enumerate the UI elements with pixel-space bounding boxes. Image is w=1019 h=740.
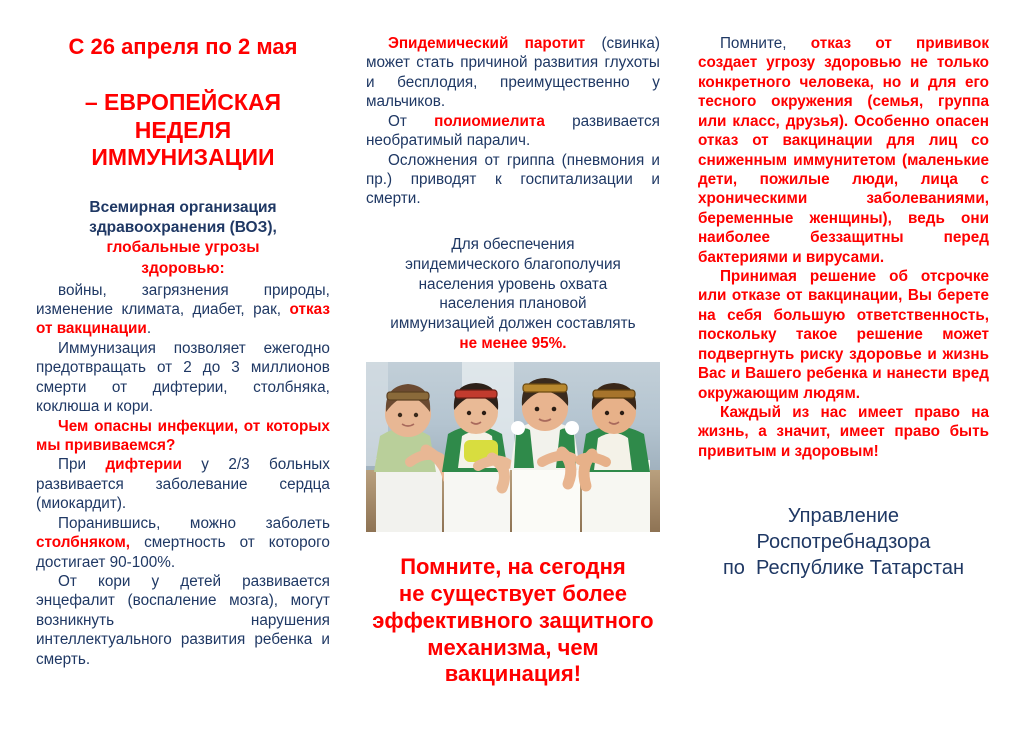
coverage-line-1: Для обеспечения [366,235,660,255]
header-title-line-2: НЕДЕЛЯ [36,117,330,145]
paragraph-question-danger: Чем опасны инфекции, от которых мы приви… [36,417,330,456]
who-subheading-line-1: Всемирная организация [36,198,330,218]
slogan-line-3: эффективного защитного [366,608,660,635]
coverage-line-4: населения плановой [366,294,660,314]
threats-tail: . [147,320,151,337]
diphtheria-lead: При [58,456,105,473]
tetanus-lead: Поранившись, можно заболеть [58,515,330,532]
authority-line-1: Управление [698,503,989,529]
vaccination-slogan: Помните, на сегодня не существует более … [366,554,660,688]
column-middle: Эпидемический паротит (свинка) может ста… [344,34,666,730]
photo-illustration [366,362,660,532]
vaccinated-girls-photo [366,362,660,532]
paragraph-tetanus: Поранившись, можно заболеть столбняком, … [36,514,330,572]
paragraph-refusal-risk: Помните, отказ от прививок создает угроз… [698,34,989,267]
column-right: Помните, отказ от прививок создает угроз… [666,34,1001,730]
paragraph-right-to-life: Каждый из нас имеет право на жизнь, а зн… [698,403,989,461]
header-title: – ЕВРОПЕЙСКАЯ НЕДЕЛЯ ИММУНИЗАЦИИ [36,89,330,172]
tetanus-highlight: столбняком, [36,534,130,551]
coverage-statement: Для обеспечения эпидемического благополу… [366,235,660,354]
paragraph-influenza: Осложнения от гриппа (пневмония и пр.) п… [366,151,660,209]
mumps-highlight: Эпидемический паротит [388,35,585,52]
polio-lead: От [388,113,434,130]
authority-line-3: по Республике Татарстан [698,555,989,581]
paragraph-responsibility: Принимая решение об отсрочке или отказе … [698,267,989,403]
slogan-line-1: Помните, на сегодня [366,554,660,581]
paragraph-mumps: Эпидемический паротит (свинка) может ста… [366,34,660,112]
header-date: С 26 апреля по 2 мая [36,34,330,59]
who-subheading: Всемирная организация здравоохранения (В… [36,198,330,238]
issuing-authority: Управление Роспотребнадзора по Республик… [698,503,989,581]
paragraph-measles: От кори у детей развивается энцефалит (в… [36,572,330,669]
slogan-line-2: не существует более [366,581,660,608]
who-subheading-line-2: здравоохранения (ВОЗ), [36,218,330,238]
slogan-line-4: механизма, чем [366,635,660,662]
coverage-line-2: эпидемического благополучия [366,255,660,275]
slogan-line-5: вакцинация! [366,661,660,688]
coverage-line-5: иммунизацией должен составлять [366,314,660,334]
paragraph-global-threats: войны, загрязнения природы, изменение кл… [36,281,330,339]
refusal-risk-text: отказ от прививок создает угрозу здоровь… [698,35,989,266]
authority-line-2: Роспотребнадзора [698,529,989,555]
global-threats-subheading: глобальные угрозы здоровью: [36,238,330,278]
global-threats-line-1: глобальные угрозы [36,238,330,258]
header-title-line-3: ИММУНИЗАЦИИ [36,144,330,172]
coverage-target-value: не менее 95%. [366,334,660,354]
header-title-line-1: – ЕВРОПЕЙСКАЯ [36,89,330,117]
remember-lead: Помните, [720,35,787,52]
immunization-week-poster: С 26 апреля по 2 мая – ЕВРОПЕЙСКАЯ НЕДЕЛ… [0,0,1019,740]
paragraph-diphtheria: При дифтерии у 2/3 больных развивается з… [36,455,330,513]
column-left: С 26 апреля по 2 мая – ЕВРОПЕЙСКАЯ НЕДЕЛ… [18,34,344,730]
paragraph-polio: От полиомиелита развивается необратимый … [366,112,660,151]
coverage-line-3: населения уровень охвата [366,275,660,295]
paragraph-immunization-prevents: Иммунизация позволяет ежегодно предотвра… [36,339,330,417]
global-threats-line-2: здоровью: [36,259,330,279]
diphtheria-highlight: дифтерии [105,456,181,473]
threats-text: войны, загрязнения природы, изменение кл… [36,282,330,318]
polio-highlight: полиомиелита [434,113,545,130]
